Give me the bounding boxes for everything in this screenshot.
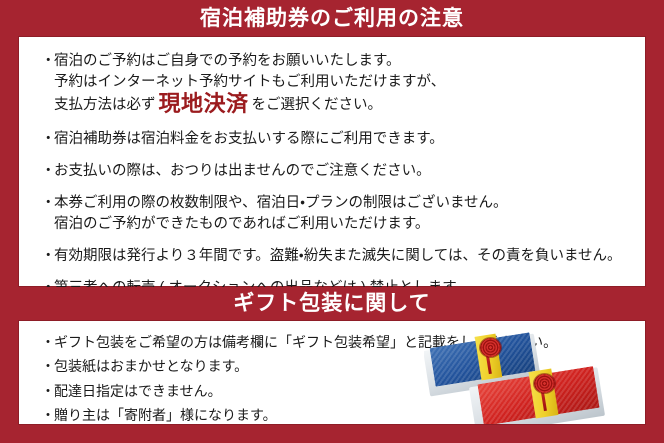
gift-header-title: ギフト包装に関して (233, 293, 430, 314)
notice-item-1-line-0: 宿泊補助券は宿泊料金をお支払いする際にご利用できます。 (54, 131, 444, 147)
bullet-marker: ・ (41, 332, 54, 352)
notice-item-0-line-0: 宿泊のご予約はご自身での予約をお願いいたします。 (54, 53, 401, 69)
gift-item-1-line-0: 包装紙はおまかせとなります。 (54, 358, 248, 374)
blue-package-mizuhiki-knot (480, 338, 501, 357)
red-package-mizuhiki-knot (534, 374, 555, 393)
list-item: ・お支払いの際は、おつりは出ませんのでご注意ください。 (41, 161, 645, 182)
notice-panel: ・宿泊のご予約はご自身での予約をお願いいたします。 予約はインターネット予約サイ… (18, 36, 646, 287)
bullet-marker: ・ (41, 193, 54, 214)
notice-item-3-line-1: 宿泊のご予約ができたものであればご利用いただけます。 (41, 214, 645, 235)
notice-item-2-line-0: お支払いの際は、おつりは出ませんのでご注意ください。 (54, 163, 431, 179)
gift-panel: ・ギフト包装をご希望の方は備考欄に「ギフト包装希望」と記載をしてください。 ・包… (18, 320, 646, 425)
genchi-kessai-emphasis: 現地決済 (156, 91, 252, 116)
gift-item-3-line-0: 贈り主は「寄附者」様になります。 (54, 407, 277, 423)
notice-item-0-emphasis-after: をご選択ください。 (252, 97, 383, 113)
list-item: ・宿泊のご予約はご自身での予約をお願いいたします。 予約はインターネット予約サイ… (41, 51, 645, 118)
bullet-marker: ・ (41, 246, 54, 267)
list-item: ・本券ご利用の際の枚数制限や、宿泊日・プランの制限はございません。 宿泊のご予約… (41, 193, 645, 235)
notice-item-0-line-1: 予約はインターネット予約サイトもご利用いただけますが、 (41, 72, 645, 93)
notice-section-header: 宿泊補助券のご利用の注意 (0, 0, 664, 36)
bullet-marker: ・ (41, 51, 54, 72)
list-item: ・宿泊補助券は宿泊料金をお支払いする際にご利用できます。 (41, 129, 645, 150)
bullet-marker: ・ (41, 129, 54, 150)
notice-item-3-line-0: 本券ご利用の際の枚数制限や、宿泊日・プランの制限はございません。 (54, 195, 508, 211)
poster: 宿泊補助券のご利用の注意 ・宿泊のご予約はご自身での予約をお願いいたします。 予… (0, 0, 664, 443)
gift-item-2-line-0: 配達日指定はできません。 (54, 383, 222, 399)
bullet-marker: ・ (41, 381, 54, 401)
notice-list: ・宿泊のご予約はご自身での予約をお願いいたします。 予約はインターネット予約サイ… (19, 37, 645, 300)
bullet-marker: ・ (41, 356, 54, 376)
notice-item-0-emphasis-before: 支払方法は必ず (54, 97, 156, 113)
notice-item-0-emphasis-line: 支払方法は必ず現地決済をご選択ください。 (41, 93, 645, 118)
list-item: ・有効期限は発行より３年間です。盗難・紛失また滅失に関しては、その責を負いません… (41, 246, 645, 267)
bullet-marker: ・ (41, 161, 54, 182)
gift-wrapped-packages-image (424, 332, 639, 424)
notice-header-title: 宿泊補助券のご利用の注意 (200, 8, 464, 29)
notice-item-4-line-0: 有効期限は発行より３年間です。盗難・紛失また滅失に関しては、その責を負いません。 (54, 248, 622, 264)
gift-section-header: ギフト包装に関して (0, 287, 664, 320)
bullet-marker: ・ (41, 405, 54, 425)
